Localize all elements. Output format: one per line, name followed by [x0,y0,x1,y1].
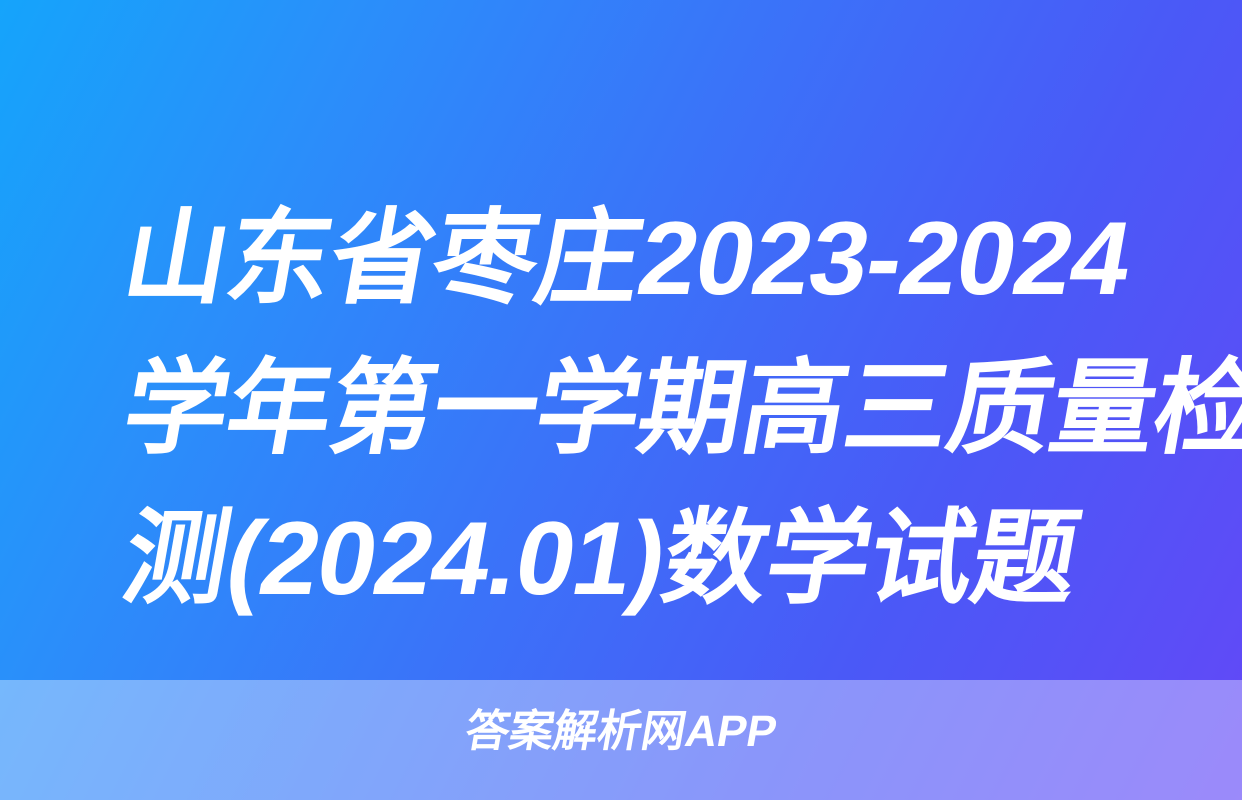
title-block: 山东省枣庄2023-2024 学年第一学期高三质量检 测(2024.01)数学试… [112,184,1192,634]
title-line-2: 学年第一学期高三质量检 [112,334,1218,484]
watermark-text: 答案解析网APP [0,706,1242,758]
title-line-1: 山东省枣庄2023-2024 [112,184,1218,334]
exam-cover-banner: 山东省枣庄2023-2024 学年第一学期高三质量检 测(2024.01)数学试… [0,0,1242,800]
title-line-3: 测(2024.01)数学试题 [112,484,1218,634]
